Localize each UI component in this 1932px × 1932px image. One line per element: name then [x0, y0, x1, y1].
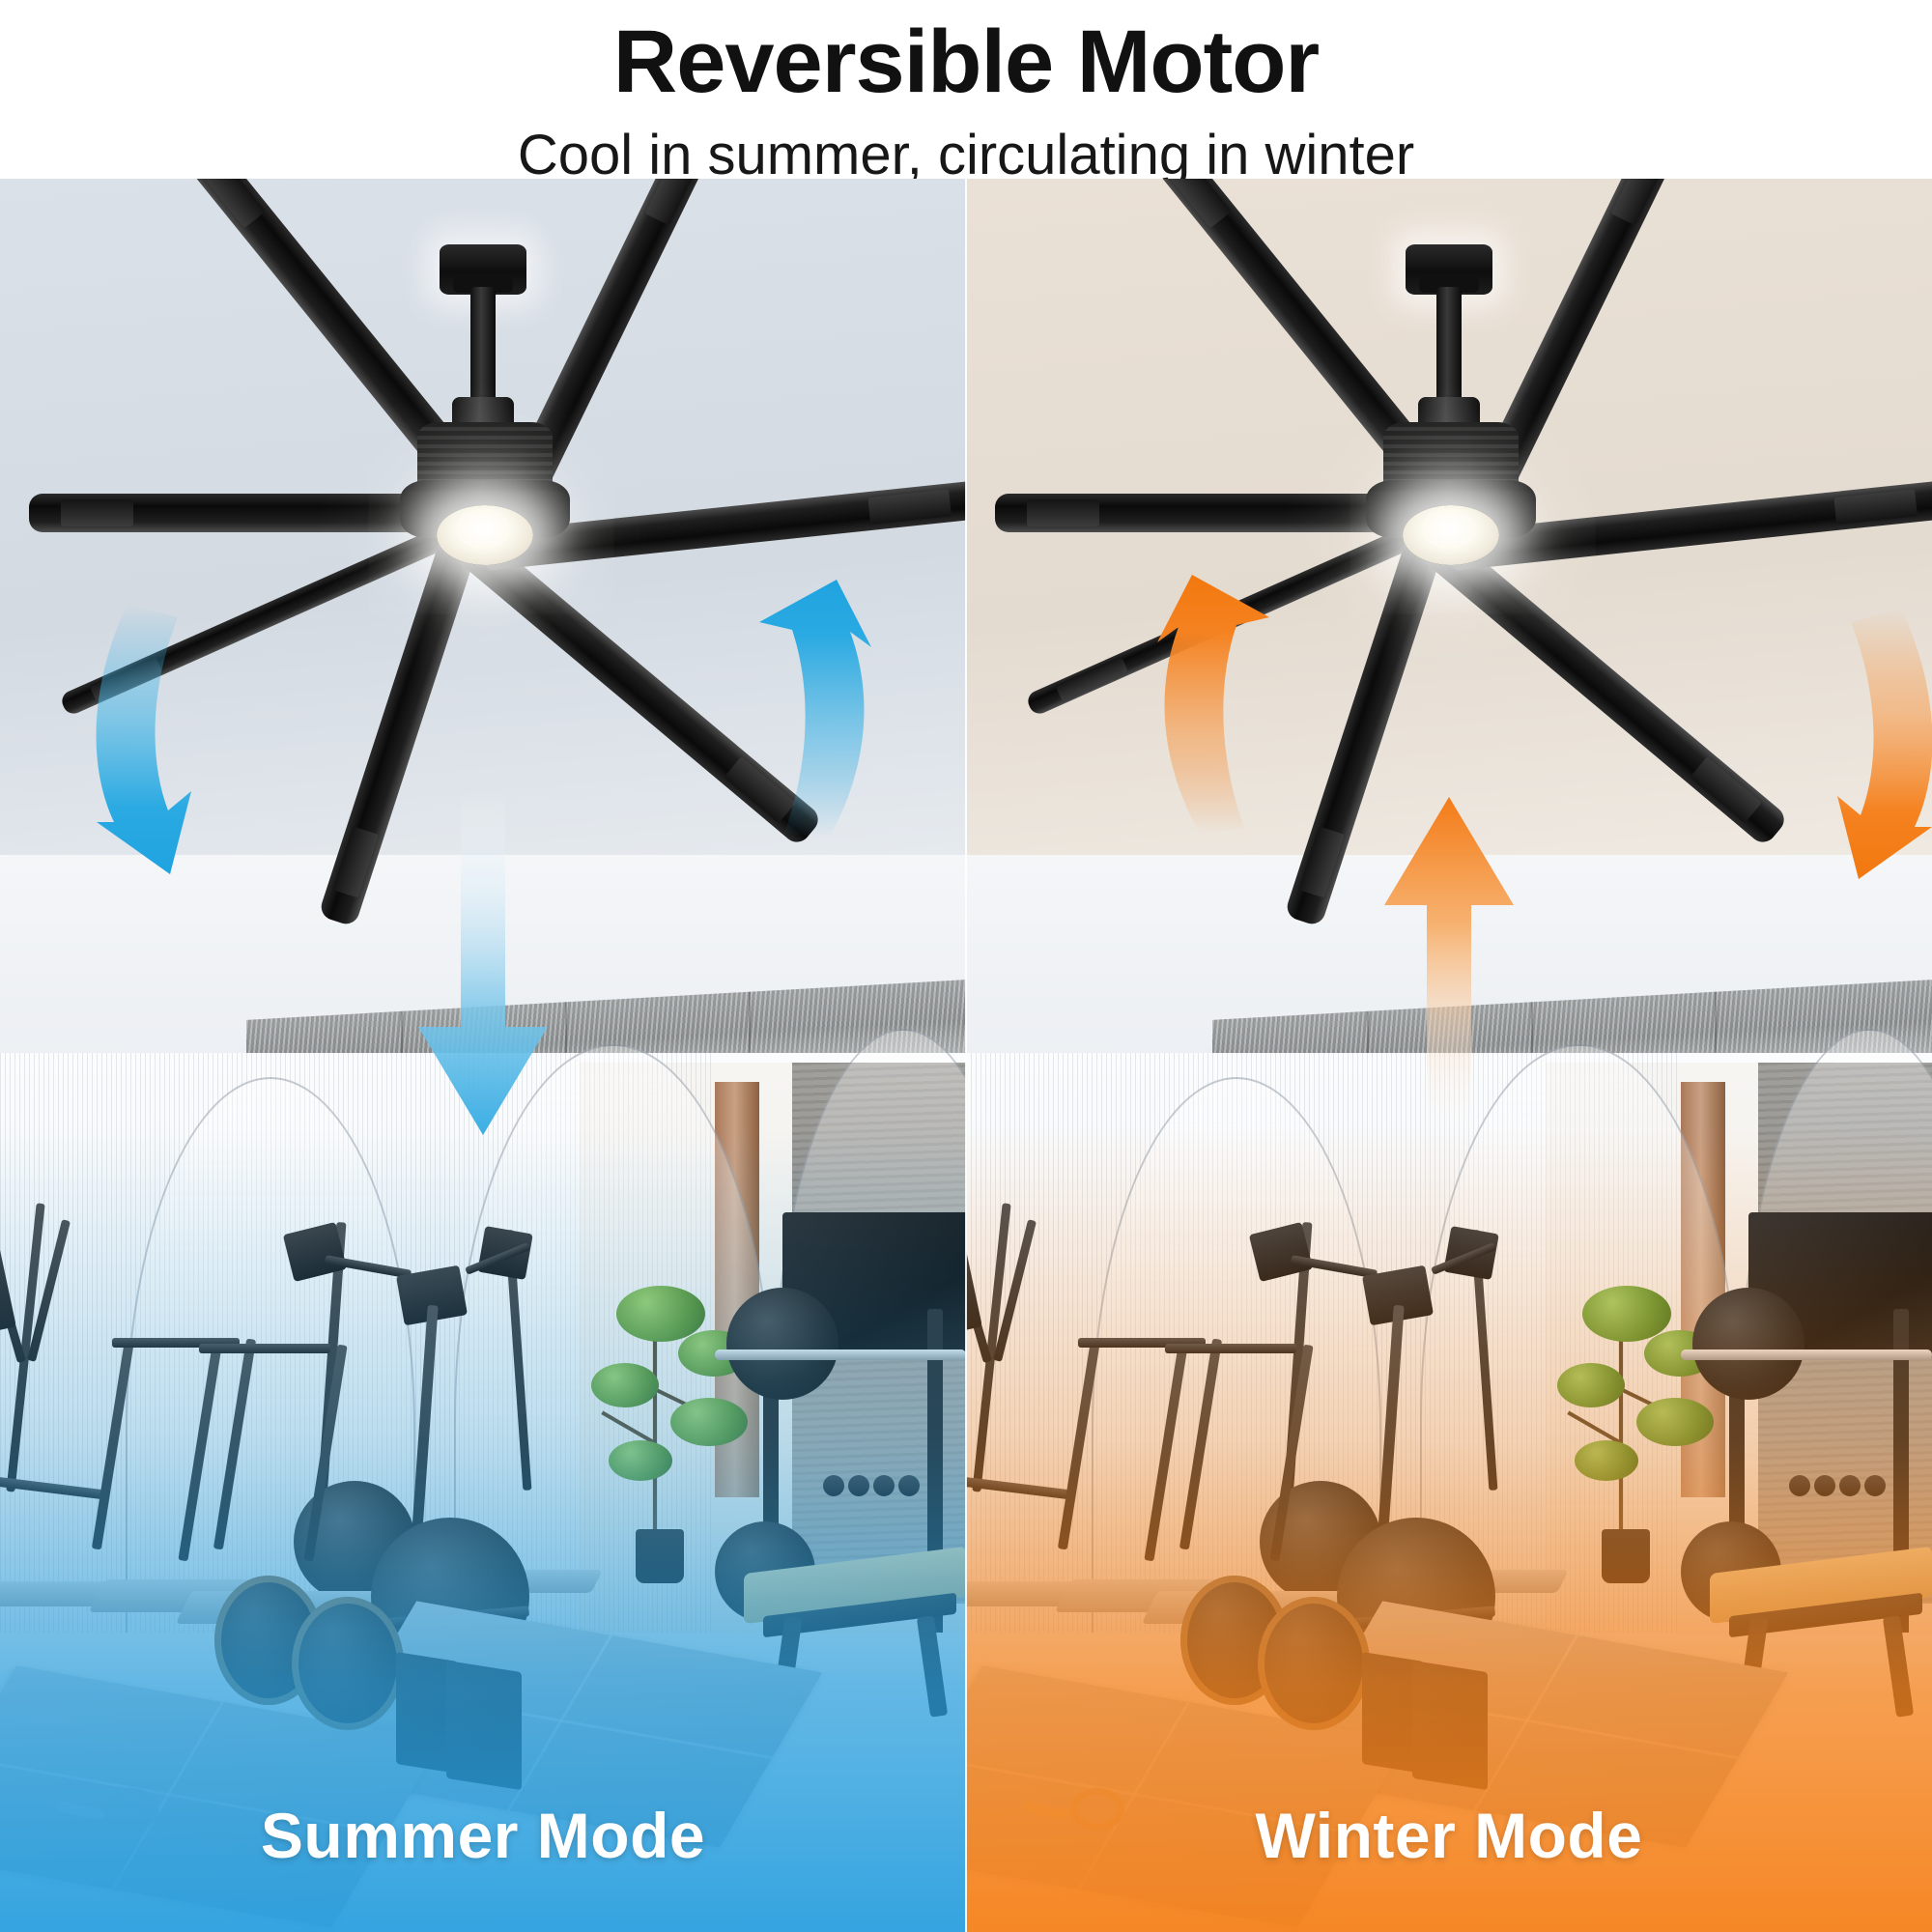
winter-mode-label: Winter Mode [966, 1799, 1932, 1872]
airflow-arrow-down [411, 797, 555, 1135]
rotation-arrow-right-summer [715, 580, 956, 860]
rotation-arrow-left-winter [1072, 575, 1314, 855]
dumbbell [823, 1475, 844, 1496]
airflow-arrow-up [1377, 797, 1521, 1135]
dumbbell [1814, 1475, 1835, 1496]
header-band: Reversible Motor Cool in summer, circula… [0, 0, 1932, 179]
dumbbell [1864, 1475, 1886, 1496]
dumbbell [1839, 1475, 1861, 1496]
plyo-block [1412, 1661, 1488, 1790]
weight-plate [726, 1288, 838, 1400]
barbell [715, 1350, 966, 1360]
dumbbell [873, 1475, 895, 1496]
foam-roller [292, 1597, 404, 1730]
dumbbell [1789, 1475, 1810, 1496]
barbell [1681, 1350, 1932, 1360]
dumbbell [848, 1475, 869, 1496]
fan-downrod [470, 287, 496, 405]
dumbbell [898, 1475, 920, 1496]
rotation-arrow-left-summer [68, 584, 319, 874]
fan-downrod [1436, 287, 1462, 405]
fan-led-light [1403, 505, 1499, 565]
summer-mode-label: Summer Mode [0, 1799, 966, 1872]
foam-roller [1258, 1597, 1370, 1730]
summer-mode-panel: Summer Mode [0, 179, 966, 1932]
weight-plate [1692, 1288, 1804, 1400]
plyo-block [446, 1661, 522, 1790]
winter-mode-panel: Winter Mode [966, 179, 1932, 1932]
fan-led-light [437, 505, 533, 565]
product-infographic: Reversible Motor Cool in summer, circula… [0, 0, 1932, 1932]
rotation-arrow-right-winter [1710, 589, 1932, 879]
panel-divider [965, 179, 967, 1932]
page-subtitle: Cool in summer, circulating in winter [0, 106, 1932, 184]
page-title: Reversible Motor [0, 0, 1932, 106]
